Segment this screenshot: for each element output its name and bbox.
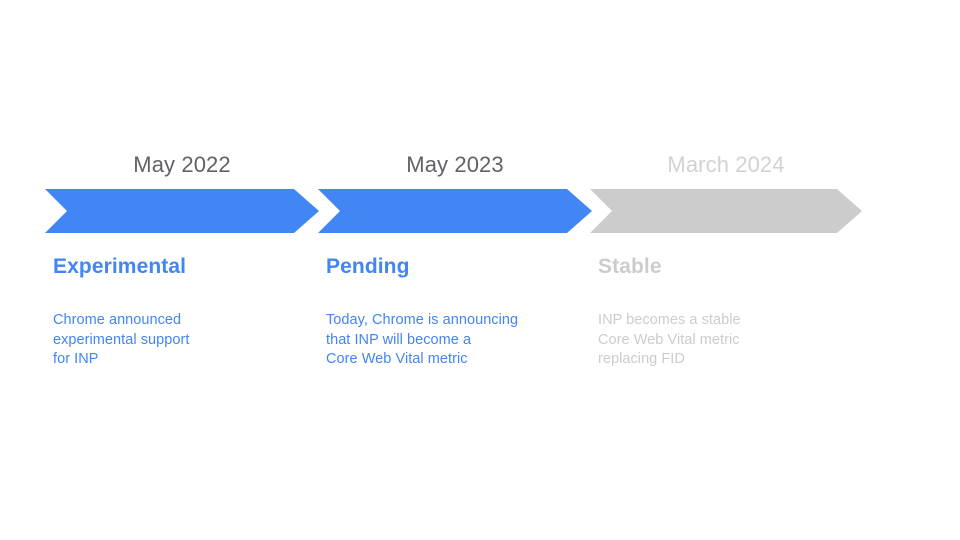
timeline-date-label: May 2022 xyxy=(45,152,319,178)
timeline-slide: May 2022 Experimental Chrome announced e… xyxy=(0,0,960,540)
description-line: Core Web Vital metric xyxy=(598,331,848,351)
description-line: Core Web Vital metric xyxy=(326,350,576,370)
description-line: Today, Chrome is announcing xyxy=(326,311,576,331)
description-line: that INP will become a xyxy=(326,331,576,351)
timeline-status-title: Pending xyxy=(326,253,410,281)
timeline-date-label: May 2023 xyxy=(318,152,592,178)
timeline-segment-experimental: May 2022 Experimental Chrome announced e… xyxy=(45,0,319,540)
timeline-segment-stable: March 2024 Stable INP becomes a stable C… xyxy=(590,0,862,540)
timeline-date-label: March 2024 xyxy=(590,152,862,178)
chevron-arrow-icon xyxy=(318,189,592,233)
description-line: replacing FID xyxy=(598,350,848,370)
chevron-arrow-icon xyxy=(45,189,319,233)
description-line: experimental support xyxy=(53,331,303,351)
description-line: INP becomes a stable xyxy=(598,311,848,331)
timeline-status-title: Experimental xyxy=(53,253,186,281)
timeline-segment-pending: May 2023 Pending Today, Chrome is announ… xyxy=(318,0,592,540)
timeline-status-description: INP becomes a stable Core Web Vital metr… xyxy=(598,311,848,370)
timeline-status-description: Today, Chrome is announcing that INP wil… xyxy=(326,311,576,370)
description-line: Chrome announced xyxy=(53,311,303,331)
chevron-arrow-icon xyxy=(590,189,862,233)
timeline-status-description: Chrome announced experimental support fo… xyxy=(53,311,303,370)
description-line: for INP xyxy=(53,350,303,370)
timeline-status-title: Stable xyxy=(598,253,662,281)
